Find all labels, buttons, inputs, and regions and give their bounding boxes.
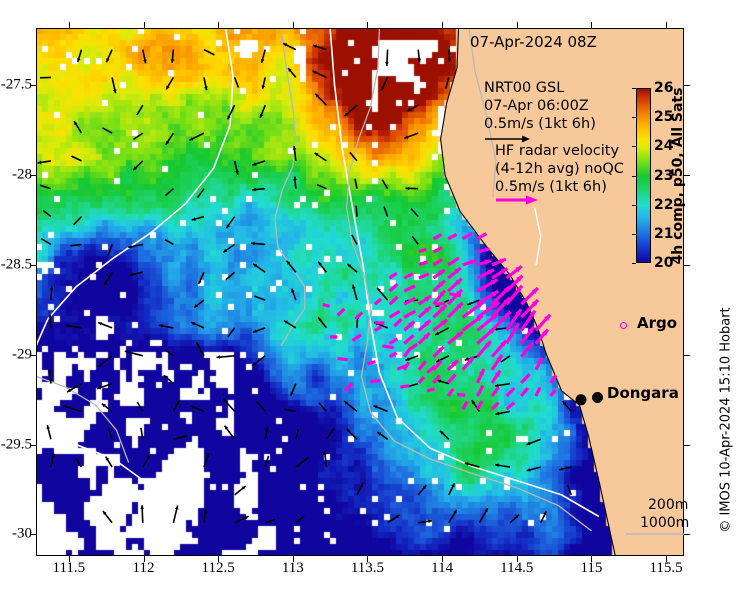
hf-radar-vector <box>375 299 381 304</box>
altimetry-vector-head <box>140 505 144 509</box>
altimetry-vector <box>43 210 51 216</box>
hf-radar-vector <box>419 262 428 265</box>
hf-radar-vector <box>419 361 426 369</box>
altimetry-vector <box>226 272 235 280</box>
x-axis-tick-label: 112 <box>133 560 155 577</box>
altimetry-vector <box>198 189 205 198</box>
altimetry-vector-head <box>206 453 209 457</box>
colorbar-tick <box>632 205 636 206</box>
colorbar-tick <box>632 146 636 147</box>
altimetry-vector <box>384 207 388 217</box>
altimetry-vector <box>356 206 357 217</box>
hf-radar-vector <box>551 375 557 383</box>
altimetry-vector <box>141 428 143 440</box>
hf-radar-vector <box>427 389 434 391</box>
bathymetry-200m-label: 200m <box>648 496 688 514</box>
hfradar-legend-line1: HF radar velocity <box>495 142 619 161</box>
hf-radar-vector <box>448 234 456 238</box>
argo-legend-label: Argo <box>637 314 677 332</box>
x-axis-tick-top <box>517 22 518 28</box>
hf-radar-vector <box>457 394 465 395</box>
y-axis-tick-label: -28.5 <box>1 257 32 274</box>
altimetry-vector-head <box>313 45 317 48</box>
hf-radar-vector <box>419 249 426 252</box>
hf-radar-vector <box>463 234 472 239</box>
altimetry-vector <box>74 217 82 225</box>
map-date-title: 07-Apr-2024 08Z <box>470 33 597 51</box>
x-axis-tick-label: 111.5 <box>53 560 86 577</box>
hf-radar-vector <box>477 249 489 252</box>
hf-radar-vector <box>477 386 483 396</box>
hf-radar-vector <box>368 362 376 364</box>
bathy-200m-southwest <box>36 376 129 462</box>
altimetry-vector-head <box>77 58 80 62</box>
sst-map-figure: 07-Apr-2024 08Z NRT00 GSL 07-Apr 06:00Z … <box>0 0 740 592</box>
altimetry-vector <box>319 403 327 412</box>
altimetry-vector <box>137 105 143 115</box>
y-axis-tick-right <box>684 534 690 535</box>
hf-radar-vector <box>492 403 498 410</box>
x-axis-tick-top <box>666 22 667 28</box>
colorbar-tick <box>632 88 636 89</box>
x-axis-tick-label: 113.5 <box>351 560 384 577</box>
hf-radar-vector <box>371 381 381 382</box>
x-axis-tick-label: 115.5 <box>649 560 682 577</box>
hf-radar-vector <box>434 235 442 239</box>
altimetry-vector <box>446 77 449 88</box>
altimetry-vector <box>165 240 174 245</box>
y-axis-tick-label: -28 <box>12 167 32 184</box>
x-axis-tick-label: 115 <box>580 560 602 577</box>
colorbar-tick <box>632 234 636 235</box>
altimetry-vector <box>254 296 265 300</box>
altimetry-vector <box>137 402 143 411</box>
altimetry-vector <box>108 244 112 255</box>
hf-radar-vector <box>521 374 529 383</box>
dongara-map-marker <box>576 394 587 405</box>
x-axis-tick-label: 112.5 <box>202 560 235 577</box>
altimetry-vector <box>76 458 82 467</box>
hf-radar-vector <box>551 390 556 396</box>
y-axis-tick-label: -27.5 <box>1 77 32 94</box>
y-axis-tick-right <box>684 85 690 86</box>
copyright-credit: © IMOS 10-Apr-2024 15:10 Hobart <box>719 307 734 532</box>
hf-radar-vector <box>390 297 398 304</box>
hf-radar-vector <box>448 375 455 383</box>
hf-radar-vector <box>390 339 398 344</box>
x-axis-tick-top <box>591 22 592 28</box>
hf-radar-vector <box>477 401 482 409</box>
hf-radar-vector <box>390 353 397 357</box>
altimetry-vector-head <box>323 451 327 455</box>
hfradar-reference-arrow <box>495 194 543 206</box>
altimetry-vector-head <box>385 62 389 66</box>
x-axis-tick-label: 113 <box>282 560 304 577</box>
station-marker-group <box>576 394 587 405</box>
altimetry-vector <box>109 429 112 440</box>
hf-radar-vector <box>435 303 445 304</box>
bathymetry-1000m-label: 1000m <box>640 514 689 532</box>
x-axis-tick-top <box>293 22 294 28</box>
hf-radar-vector <box>409 344 417 349</box>
altimetry-vector <box>204 50 214 55</box>
x-axis-tick-top <box>367 22 368 28</box>
altimetry-vector <box>382 180 387 189</box>
hf-radar-vector <box>507 388 515 396</box>
y-axis-tick-label: -29 <box>12 346 32 363</box>
hf-radar-vector <box>434 248 443 252</box>
x-axis-tick-top <box>218 22 219 28</box>
hf-radar-vector <box>404 311 415 317</box>
altimetry-vector-head <box>252 162 256 165</box>
hf-radar-vector <box>345 383 352 390</box>
hf-radar-vector <box>338 358 348 359</box>
altimetry-vector-head <box>50 286 54 290</box>
hf-radar-vector <box>404 274 413 278</box>
hf-radar-vector <box>419 377 424 383</box>
hf-radar-vector <box>390 273 397 278</box>
altimetry-vector <box>41 238 51 244</box>
x-axis-tick-label: 114 <box>431 560 453 577</box>
hf-radar-vector <box>463 401 468 409</box>
hf-radar-vector <box>404 335 413 343</box>
altimetry-vector <box>102 128 112 133</box>
hf-radar-vector <box>394 319 401 326</box>
altimetry-legend-line2: 07-Apr 06:00Z <box>484 97 589 116</box>
altimetry-vector-head <box>448 58 452 62</box>
colorbar-tick <box>632 117 636 118</box>
hf-radar-vector <box>382 346 393 348</box>
dongara-station-marker-icon <box>592 392 603 403</box>
sst-colorbar <box>636 88 651 263</box>
hf-radar-vector <box>492 387 499 396</box>
altimetry-vector <box>265 456 268 467</box>
hf-radar-vector <box>434 259 443 265</box>
dongara-label: Dongara <box>607 384 679 402</box>
y-axis-tick-right <box>684 265 690 266</box>
y-axis-tick-label: -29.5 <box>1 436 32 453</box>
bathy-200m-west <box>275 28 305 346</box>
altimetry-legend-line1: NRT00 GSL <box>484 79 564 98</box>
hf-radar-vector <box>404 286 415 291</box>
altimetry-vector-head <box>97 386 101 389</box>
altimetry-vector-head <box>406 187 410 191</box>
hf-radar-vector <box>450 294 461 296</box>
altimetry-vector <box>134 133 143 139</box>
altimetry-vector <box>284 409 295 411</box>
hf-radar-vector <box>375 327 382 331</box>
bathy-1000m-south <box>36 436 170 549</box>
altimetry-vector-head <box>293 177 297 181</box>
hf-radar-vector <box>521 388 528 396</box>
x-axis-tick-label: 114.5 <box>500 560 533 577</box>
hf-radar-vector <box>338 309 345 316</box>
argo-legend-marker-icon <box>620 322 627 329</box>
hf-radar-vector <box>390 311 400 317</box>
hf-radar-vector <box>353 335 362 341</box>
x-axis-tick-top <box>69 22 70 28</box>
y-axis-tick-right <box>684 175 690 176</box>
altimetry-legend-line3: 0.5m/s (1kt 6h) <box>484 115 596 134</box>
hf-radar-vector <box>375 323 385 324</box>
hf-radar-vector <box>390 284 398 291</box>
hf-radar-vector <box>400 386 409 388</box>
colorbar-tick <box>632 263 636 264</box>
x-axis-tick-top <box>442 22 443 28</box>
altimetry-vector <box>408 384 419 387</box>
hf-radar-vector <box>323 305 330 307</box>
altimetry-vector <box>165 349 174 355</box>
altimetry-vector <box>317 185 326 189</box>
colorbar-tick <box>632 176 636 177</box>
hfradar-legend-line2: (4-12h avg) noQC <box>495 160 624 179</box>
hf-radar-vector <box>419 274 429 278</box>
x-axis-tick-top <box>144 22 145 28</box>
hf-radar-vector <box>448 258 459 265</box>
altimetry-vector <box>355 179 357 189</box>
hf-radar-vector <box>507 403 514 409</box>
altimetry-vector <box>40 185 51 189</box>
y-axis-tick-label: -30 <box>12 526 32 543</box>
altimetry-vector <box>235 77 239 87</box>
altimetry-vector-head <box>171 59 175 63</box>
altimetry-vector <box>296 516 304 523</box>
altimetry-vector <box>412 236 418 244</box>
altimetry-vector <box>228 328 235 337</box>
hf-radar-vector <box>448 389 453 396</box>
hf-radar-vector <box>536 388 540 397</box>
altimetry-vector-head <box>251 242 255 246</box>
bathy-1000m-west <box>36 28 233 346</box>
altimetry-vector <box>70 244 81 245</box>
bathymetry-scale-line <box>626 532 686 536</box>
altimetry-vector <box>71 156 81 161</box>
altimetry-vector <box>265 519 275 523</box>
y-axis-tick-right <box>684 355 690 356</box>
altimetry-vector <box>165 189 173 196</box>
altimetry-vector <box>568 485 572 495</box>
y-axis-tick-right <box>684 445 690 446</box>
hf-radar-vector <box>356 312 363 319</box>
altimetry-vector <box>411 209 418 217</box>
altimetry-vector <box>296 429 299 439</box>
